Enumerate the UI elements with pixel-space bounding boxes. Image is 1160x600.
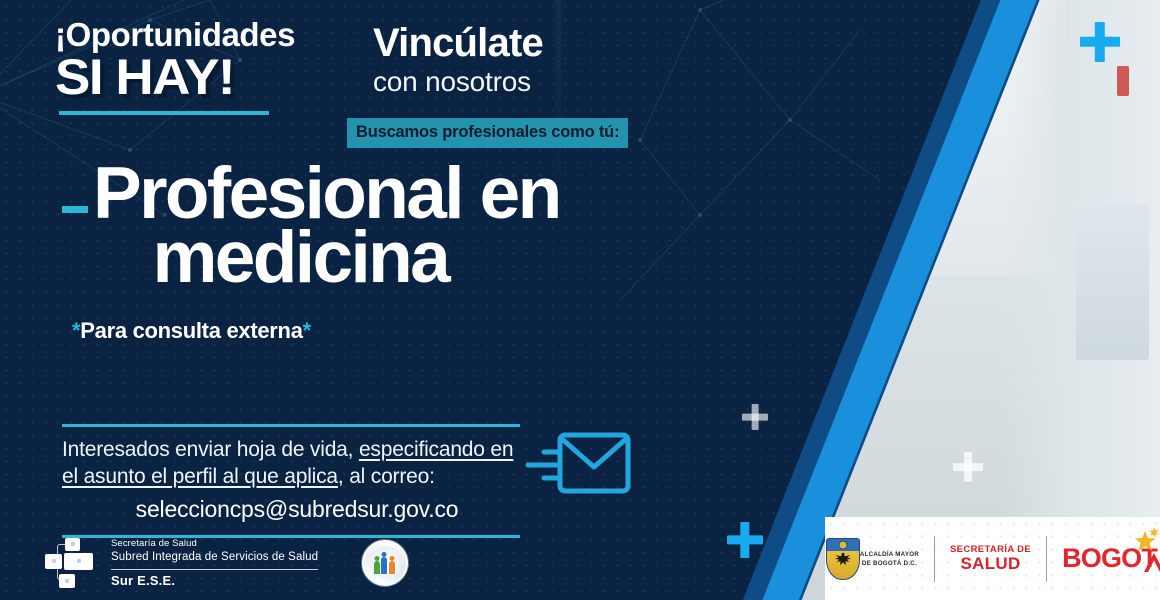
accreditation-seal-icon [362, 540, 408, 586]
plus-icon-bottom-left [727, 522, 763, 558]
poster-content: ¡Oportunidades SI HAY! Vincúlate con nos… [0, 0, 700, 600]
contact-email[interactable]: seleccioncps@subredsur.gov.co [62, 491, 532, 525]
bogota-chevron-icon [1143, 551, 1160, 573]
subred-line-2: Subred Integrada de Servicios de Salud [111, 550, 318, 566]
plus-icon-coat-a [742, 404, 768, 430]
secretaria-line-2: SALUD [950, 555, 1031, 574]
subred-line-3: Sur E.S.E. [111, 573, 318, 588]
subred-logo: Secretaría de Salud Subred Integrada de … [45, 538, 318, 588]
invite-line-2: con nosotros [373, 66, 543, 98]
job-title-block: Profesional en medicina [62, 162, 692, 290]
subred-line-1: Secretaría de Salud [111, 538, 318, 551]
contact-block: Interesados enviar hoja de vida, especif… [62, 424, 532, 538]
job-title: Profesional en medicina [93, 162, 560, 290]
plus-icon-top-right [1080, 22, 1120, 62]
job-note: *Para consulta externa* [72, 318, 311, 344]
recruitment-poster: Dr. ALFREDO PULGAR TORRES MEDICINA INTER… [0, 0, 1160, 600]
kicker-line-2: SI HAY! [55, 53, 309, 102]
job-note-text: Para consulta externa [80, 318, 302, 343]
bogota-logo: BOGOT [1062, 545, 1159, 572]
subred-mark-icon [45, 538, 103, 588]
alcaldia-line-2: DE BOGOTÁ D.C. [860, 560, 919, 569]
kicker-line-1: ¡Oportunidades [55, 18, 295, 51]
invite-block: Vincúlate con nosotros [373, 22, 543, 98]
plus-icon-coat-b [953, 452, 983, 482]
job-title-line-2: medicina [93, 226, 560, 290]
secretaria-salud-logo: SECRETARÍA DE SALUD [950, 544, 1031, 574]
footer-left: Secretaría de Salud Subred Integrada de … [45, 538, 408, 588]
contact-text-part2: , al correo: [338, 465, 435, 488]
job-title-dash [62, 206, 88, 213]
bogota-coat-of-arms-icon [826, 538, 860, 580]
envelope-icon [522, 424, 634, 510]
kicker-underline [59, 111, 269, 115]
contact-text-part1: Interesados enviar hoja de vida, [62, 438, 359, 461]
alcaldia-line-1: ALCALDÍA MAYOR [860, 551, 919, 560]
alcaldia-logo: ALCALDÍA MAYOR DE BOGOTÁ D.C. [826, 538, 919, 580]
job-note-asterisk-right: * [303, 318, 311, 343]
contact-instructions: Interesados enviar hoja de vida, especif… [62, 427, 532, 526]
secretaria-line-1: SECRETARÍA DE [950, 544, 1031, 555]
kicker-block: ¡Oportunidades SI HAY! [55, 18, 295, 115]
footer-right: ALCALDÍA MAYOR DE BOGOTÁ D.C. SECRETARÍA… [825, 517, 1160, 600]
invite-line-1: Vincúlate [373, 22, 543, 64]
seeking-chip: Buscamos profesionales como tú: [347, 118, 628, 148]
subred-logo-text: Secretaría de Salud Subred Integrada de … [111, 538, 318, 588]
alcaldia-text: ALCALDÍA MAYOR DE BOGOTÁ D.C. [860, 551, 919, 568]
